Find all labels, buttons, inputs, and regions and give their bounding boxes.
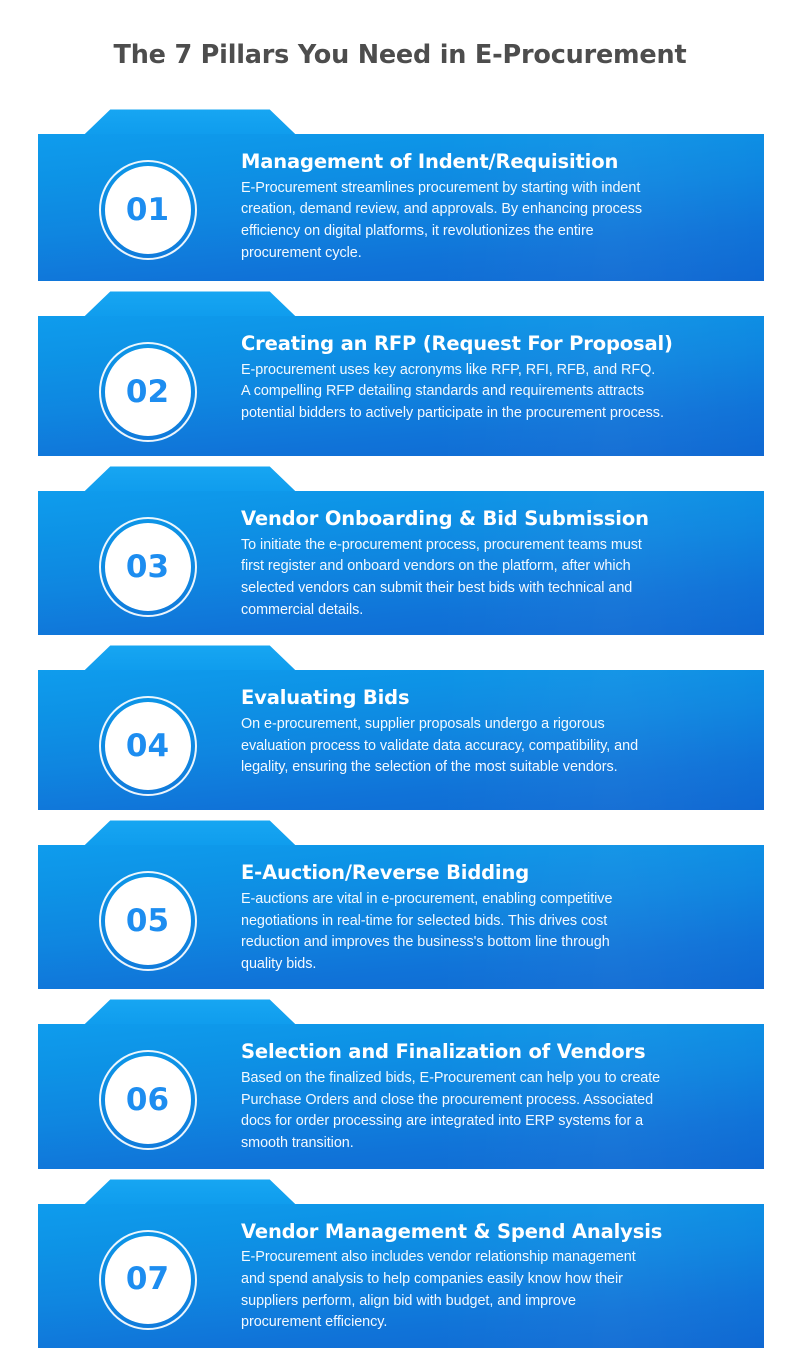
card-description: E-procurement uses key acronyms like RFP… (241, 360, 742, 425)
badge-inner-circle: 06 (105, 1056, 191, 1144)
pillar-card[interactable]: 06 Selection and Finalization of Vendors… (38, 998, 764, 1168)
card-text-column: Vendor Onboarding & Bid Submission To in… (241, 501, 748, 621)
card-body: 03 Vendor Onboarding & Bid Submission To… (38, 491, 764, 635)
infographic-page: The 7 Pillars You Need in E-Procurement (0, 0, 800, 1257)
card-heading: E-Auction/Reverse Bidding (241, 861, 742, 885)
pillar-card[interactable]: 02 Creating an RFP (Request For Proposal… (38, 290, 764, 456)
card-description: E-Procurement also includes vendor relat… (241, 1247, 742, 1333)
badge-number: 05 (126, 906, 169, 937)
number-badge: 02 (99, 342, 197, 442)
card-body: 06 Selection and Finalization of Vendors… (38, 1024, 764, 1168)
badge-number: 04 (126, 731, 169, 762)
description-line: selected vendors can submit their best b… (241, 578, 742, 600)
card-description: Based on the finalized bids, E-Procureme… (241, 1068, 742, 1154)
description-line: To initiate the e-procurement process, p… (241, 535, 742, 557)
badge-inner-circle: 03 (105, 523, 191, 611)
description-line: commercial details. (241, 600, 742, 622)
badge-number: 03 (126, 552, 169, 583)
badge-column: 01 (54, 144, 241, 260)
description-line: legality, ensuring the selection of the … (241, 757, 742, 779)
description-line: procurement cycle. (241, 243, 742, 265)
card-text-column: Management of Indent/Requisition E-Procu… (241, 144, 748, 264)
card-description: On e-procurement, supplier proposals und… (241, 714, 742, 779)
description-line: reduction and improves the business's bo… (241, 932, 742, 954)
number-badge: 05 (99, 871, 197, 971)
description-line: E-Procurement streamlines procurement by… (241, 178, 742, 200)
badge-inner-circle: 02 (105, 348, 191, 436)
card-heading: Creating an RFP (Request For Proposal) (241, 332, 742, 356)
card-tab-shape (38, 1178, 764, 1205)
badge-number: 02 (126, 377, 169, 408)
description-line: efficiency on digital platforms, it revo… (241, 221, 742, 243)
badge-inner-circle: 01 (105, 166, 191, 254)
card-text-column: Selection and Finalization of Vendors Ba… (241, 1034, 748, 1154)
description-line: On e-procurement, supplier proposals und… (241, 714, 742, 736)
badge-column: 06 (54, 1034, 241, 1150)
number-badge: 04 (99, 696, 197, 796)
card-heading: Vendor Management & Spend Analysis (241, 1220, 742, 1244)
number-badge: 06 (99, 1050, 197, 1150)
page-title: The 7 Pillars You Need in E-Procurement (0, 40, 800, 70)
description-line: smooth transition. (241, 1133, 742, 1155)
description-line: E-Procurement also includes vendor relat… (241, 1247, 742, 1269)
card-tab-shape (38, 644, 764, 671)
pillar-card[interactable]: 01 Management of Indent/Requisition E-Pr… (38, 108, 764, 281)
card-text-column: Evaluating Bids On e-procurement, suppli… (241, 680, 748, 779)
badge-column: 04 (54, 680, 241, 796)
badge-inner-circle: 05 (105, 877, 191, 965)
description-line: evaluation process to validate data accu… (241, 736, 742, 758)
card-body: 07 Vendor Management & Spend Analysis E-… (38, 1204, 764, 1348)
badge-column: 02 (54, 326, 241, 442)
card-heading: Management of Indent/Requisition (241, 150, 742, 174)
description-line: first register and onboard vendors on th… (241, 556, 742, 578)
description-line: procurement efficiency. (241, 1312, 742, 1334)
badge-column: 05 (54, 855, 241, 971)
badge-inner-circle: 04 (105, 702, 191, 790)
card-tab-shape (38, 998, 764, 1025)
number-badge: 07 (99, 1230, 197, 1330)
badge-inner-circle: 07 (105, 1236, 191, 1324)
card-tab-shape (38, 465, 764, 492)
description-line: E-procurement uses key acronyms like RFP… (241, 360, 742, 382)
pillar-card[interactable]: 04 Evaluating Bids On e-procurement, sup… (38, 644, 764, 810)
card-tab-shape (38, 290, 764, 317)
badge-number: 06 (126, 1085, 169, 1116)
card-heading: Selection and Finalization of Vendors (241, 1040, 742, 1064)
card-heading: Evaluating Bids (241, 686, 742, 710)
card-body: 04 Evaluating Bids On e-procurement, sup… (38, 670, 764, 810)
badge-number: 07 (126, 1264, 169, 1295)
description-line: suppliers perform, align bid with budget… (241, 1291, 742, 1313)
description-line: quality bids. (241, 954, 742, 976)
card-heading: Vendor Onboarding & Bid Submission (241, 507, 742, 531)
card-tab-shape (38, 108, 764, 135)
description-line: A compelling RFP detailing standards and… (241, 381, 742, 403)
number-badge: 03 (99, 517, 197, 617)
card-body: 02 Creating an RFP (Request For Proposal… (38, 316, 764, 456)
badge-column: 03 (54, 501, 241, 617)
card-text-column: Creating an RFP (Request For Proposal) E… (241, 326, 748, 425)
description-line: Purchase Orders and close the procuremen… (241, 1090, 742, 1112)
pillar-card[interactable]: 07 Vendor Management & Spend Analysis E-… (38, 1178, 764, 1348)
description-line: docs for order processing are integrated… (241, 1111, 742, 1133)
card-body: 05 E-Auction/Reverse Bidding E-auctions … (38, 845, 764, 989)
card-description: To initiate the e-procurement process, p… (241, 535, 742, 621)
card-text-column: E-Auction/Reverse Bidding E-auctions are… (241, 855, 748, 975)
pillar-card[interactable]: 05 E-Auction/Reverse Bidding E-auctions … (38, 819, 764, 989)
card-tab-shape (38, 819, 764, 846)
description-line: Based on the finalized bids, E-Procureme… (241, 1068, 742, 1090)
description-line: negotiations in real-time for selected b… (241, 911, 742, 933)
card-description: E-Procurement streamlines procurement by… (241, 178, 742, 264)
badge-column: 07 (54, 1214, 241, 1330)
description-line: creation, demand review, and approvals. … (241, 199, 742, 221)
description-line: and spend analysis to help companies eas… (241, 1269, 742, 1291)
card-body: 01 Management of Indent/Requisition E-Pr… (38, 134, 764, 281)
number-badge: 01 (99, 160, 197, 260)
description-line: potential bidders to actively participat… (241, 403, 742, 425)
pillar-card-list: 01 Management of Indent/Requisition E-Pr… (38, 108, 764, 1357)
card-description: E-auctions are vital in e-procurement, e… (241, 889, 742, 975)
pillar-card[interactable]: 03 Vendor Onboarding & Bid Submission To… (38, 465, 764, 635)
badge-number: 01 (126, 195, 169, 226)
title-container: The 7 Pillars You Need in E-Procurement (0, 40, 800, 70)
card-text-column: Vendor Management & Spend Analysis E-Pro… (241, 1214, 748, 1334)
description-line: E-auctions are vital in e-procurement, e… (241, 889, 742, 911)
